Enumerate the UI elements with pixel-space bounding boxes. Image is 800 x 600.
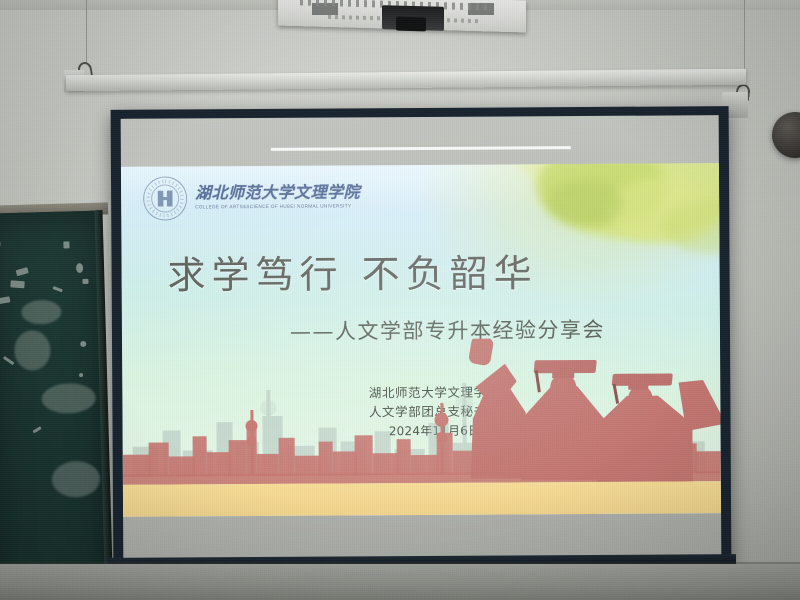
foliage-blob [547, 180, 623, 226]
logo-text-block: 湖北师范大学文理学院 COLLEGE OF ARTS&SCIENCE OF HU… [195, 186, 360, 211]
graduate-cap-crown-center [552, 368, 574, 378]
graduate-fist-left [468, 337, 494, 366]
screen-light-streak [271, 146, 571, 151]
lower-wall [0, 564, 800, 600]
logo-english-name: COLLEGE OF ARTS&SCIENCE OF HUBEI NORMAL … [195, 204, 360, 210]
university-seal-icon [143, 176, 187, 220]
logo-chinese-name: 湖北师范大学文理学院 [195, 186, 360, 203]
projection-screen-frame: 湖北师范大学文理学院 COLLEGE OF ARTS&SCIENCE OF HU… [111, 106, 732, 572]
slide-skyline-graphic [122, 337, 721, 517]
graduate-tassel-center [535, 370, 541, 392]
projected-slide: 湖北师范大学文理学院 COLLEGE OF ARTS&SCIENCE OF HU… [121, 163, 721, 517]
ceiling-projector [278, 0, 526, 39]
graduate-cap-crown-right [628, 381, 648, 390]
ground-band-gold [123, 481, 721, 517]
projection-screen-surface: 湖北师范大学文理学院 COLLEGE OF ARTS&SCIENCE OF HU… [121, 115, 722, 561]
university-logo: 湖北师范大学文理学院 COLLEGE OF ARTS&SCIENCE OF HU… [143, 175, 360, 220]
slide-title: 求学笃行 不负韶华 [167, 242, 607, 300]
classroom-scene: 湖北师范大学文理学院 COLLEGE OF ARTS&SCIENCE OF HU… [0, 0, 800, 600]
screen-hanger-wire-left [86, 0, 87, 64]
projector-lens [396, 17, 426, 32]
blackboard [0, 210, 111, 600]
graduate-tassel-right [613, 384, 620, 404]
graduate-silhouettes [464, 337, 715, 481]
